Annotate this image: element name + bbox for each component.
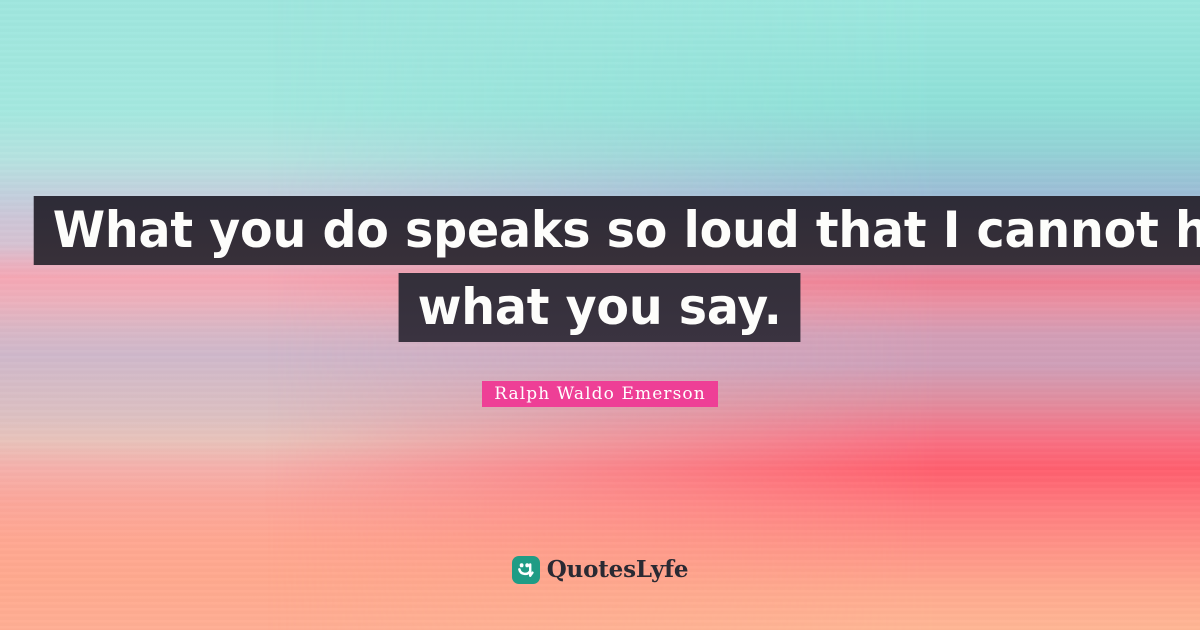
brand-footer[interactable]: QuotesLyfe xyxy=(0,556,1200,584)
author-attribution: Ralph Waldo Emerson xyxy=(0,381,1200,407)
brand-name: QuotesLyfe xyxy=(547,556,689,584)
quote-text-block: What you do speaks so loud that I cannot… xyxy=(0,196,1200,342)
quote-line-2: what you say. xyxy=(399,273,801,342)
quote-card: What you do speaks so loud that I cannot… xyxy=(0,0,1200,630)
quote-smiley-icon xyxy=(512,556,540,584)
quote-line-1: What you do speaks so loud that I cannot… xyxy=(34,196,1200,265)
author-name: Ralph Waldo Emerson xyxy=(482,381,718,407)
